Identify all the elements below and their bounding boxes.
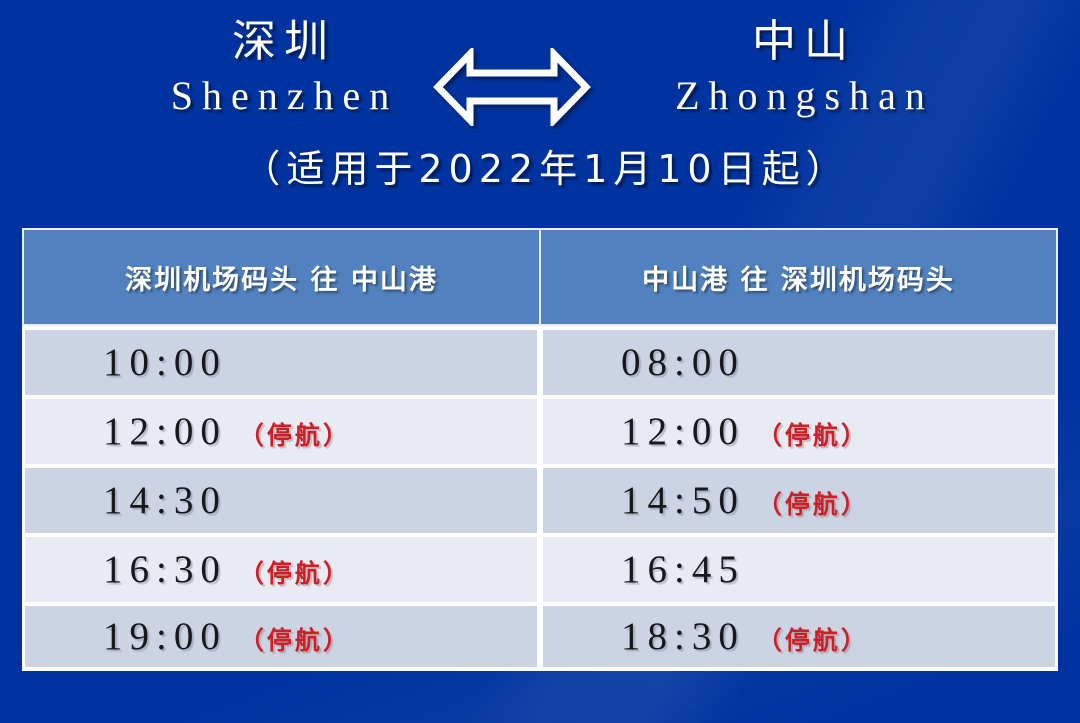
departure-cell-outbound: 10:00 xyxy=(22,326,540,395)
departure-time: 12:00 xyxy=(103,410,227,453)
table-row: 12:00（停航） 12:00（停航） xyxy=(22,395,1058,464)
departure-time: 14:30 xyxy=(103,479,227,522)
table-row: 14:30 14:50（停航） xyxy=(22,464,1058,533)
table-row: 19:00（停航） 18:30（停航） xyxy=(22,602,1058,671)
departure-time: 16:30 xyxy=(103,548,227,591)
departure-time: 18:30 xyxy=(621,615,745,658)
table-row: 10:00 08:00 xyxy=(22,326,1058,395)
route-line: 深圳 Shenzhen 中山 Zhongshan xyxy=(0,16,1080,134)
destination-city-english: Zhongshan xyxy=(600,68,1000,124)
destination-city-chinese: 中山 xyxy=(600,16,1000,68)
column-header-outbound: 深圳机场码头 往 中山港 xyxy=(22,228,540,326)
departure-time: 08:00 xyxy=(621,341,745,384)
departure-time: 19:00 xyxy=(103,615,227,658)
destination-city: 中山 Zhongshan xyxy=(600,16,1000,134)
departure-cell-outbound: 12:00（停航） xyxy=(22,395,540,464)
departure-time: 16:45 xyxy=(621,548,745,591)
departure-cell-inbound: 14:50（停航） xyxy=(540,464,1058,533)
origin-city: 深圳 Shenzhen xyxy=(80,16,480,134)
table-row: 16:30（停航） 16:45 xyxy=(22,533,1058,602)
departure-time: 12:00 xyxy=(621,410,745,453)
suspended-note: （停航） xyxy=(757,421,869,450)
origin-city-english: Shenzhen xyxy=(80,68,480,124)
suspended-note: （停航） xyxy=(239,626,351,655)
column-header-inbound: 中山港 往 深圳机场码头 xyxy=(540,228,1058,326)
table-header-row: 深圳机场码头 往 中山港 中山港 往 深圳机场码头 xyxy=(22,228,1058,326)
effective-date-subtitle: （适用于2022年1月10日起） xyxy=(0,142,1080,196)
suspended-note: （停航） xyxy=(239,421,351,450)
poster-header: 深圳 Shenzhen 中山 Zhongshan （适用于2022年1月10日起… xyxy=(0,0,1080,215)
ferry-schedule-poster: 深圳 Shenzhen 中山 Zhongshan （适用于2022年1月10日起… xyxy=(0,0,1080,723)
departure-cell-outbound: 16:30（停航） xyxy=(22,533,540,602)
departure-cell-inbound: 12:00（停航） xyxy=(540,395,1058,464)
schedule-table: 深圳机场码头 往 中山港 中山港 往 深圳机场码头 10:00 08:00 12… xyxy=(22,228,1058,671)
departure-cell-inbound: 08:00 xyxy=(540,326,1058,395)
double-arrow-icon xyxy=(432,48,592,126)
suspended-note: （停航） xyxy=(757,490,869,519)
departure-cell-inbound: 16:45 xyxy=(540,533,1058,602)
suspended-note: （停航） xyxy=(239,559,351,588)
origin-city-chinese: 深圳 xyxy=(80,16,480,68)
departure-time: 14:50 xyxy=(621,479,745,522)
departure-cell-outbound: 19:00（停航） xyxy=(22,602,540,671)
departure-cell-inbound: 18:30（停航） xyxy=(540,602,1058,671)
suspended-note: （停航） xyxy=(757,626,869,655)
departure-time: 10:00 xyxy=(103,341,227,384)
departure-cell-outbound: 14:30 xyxy=(22,464,540,533)
